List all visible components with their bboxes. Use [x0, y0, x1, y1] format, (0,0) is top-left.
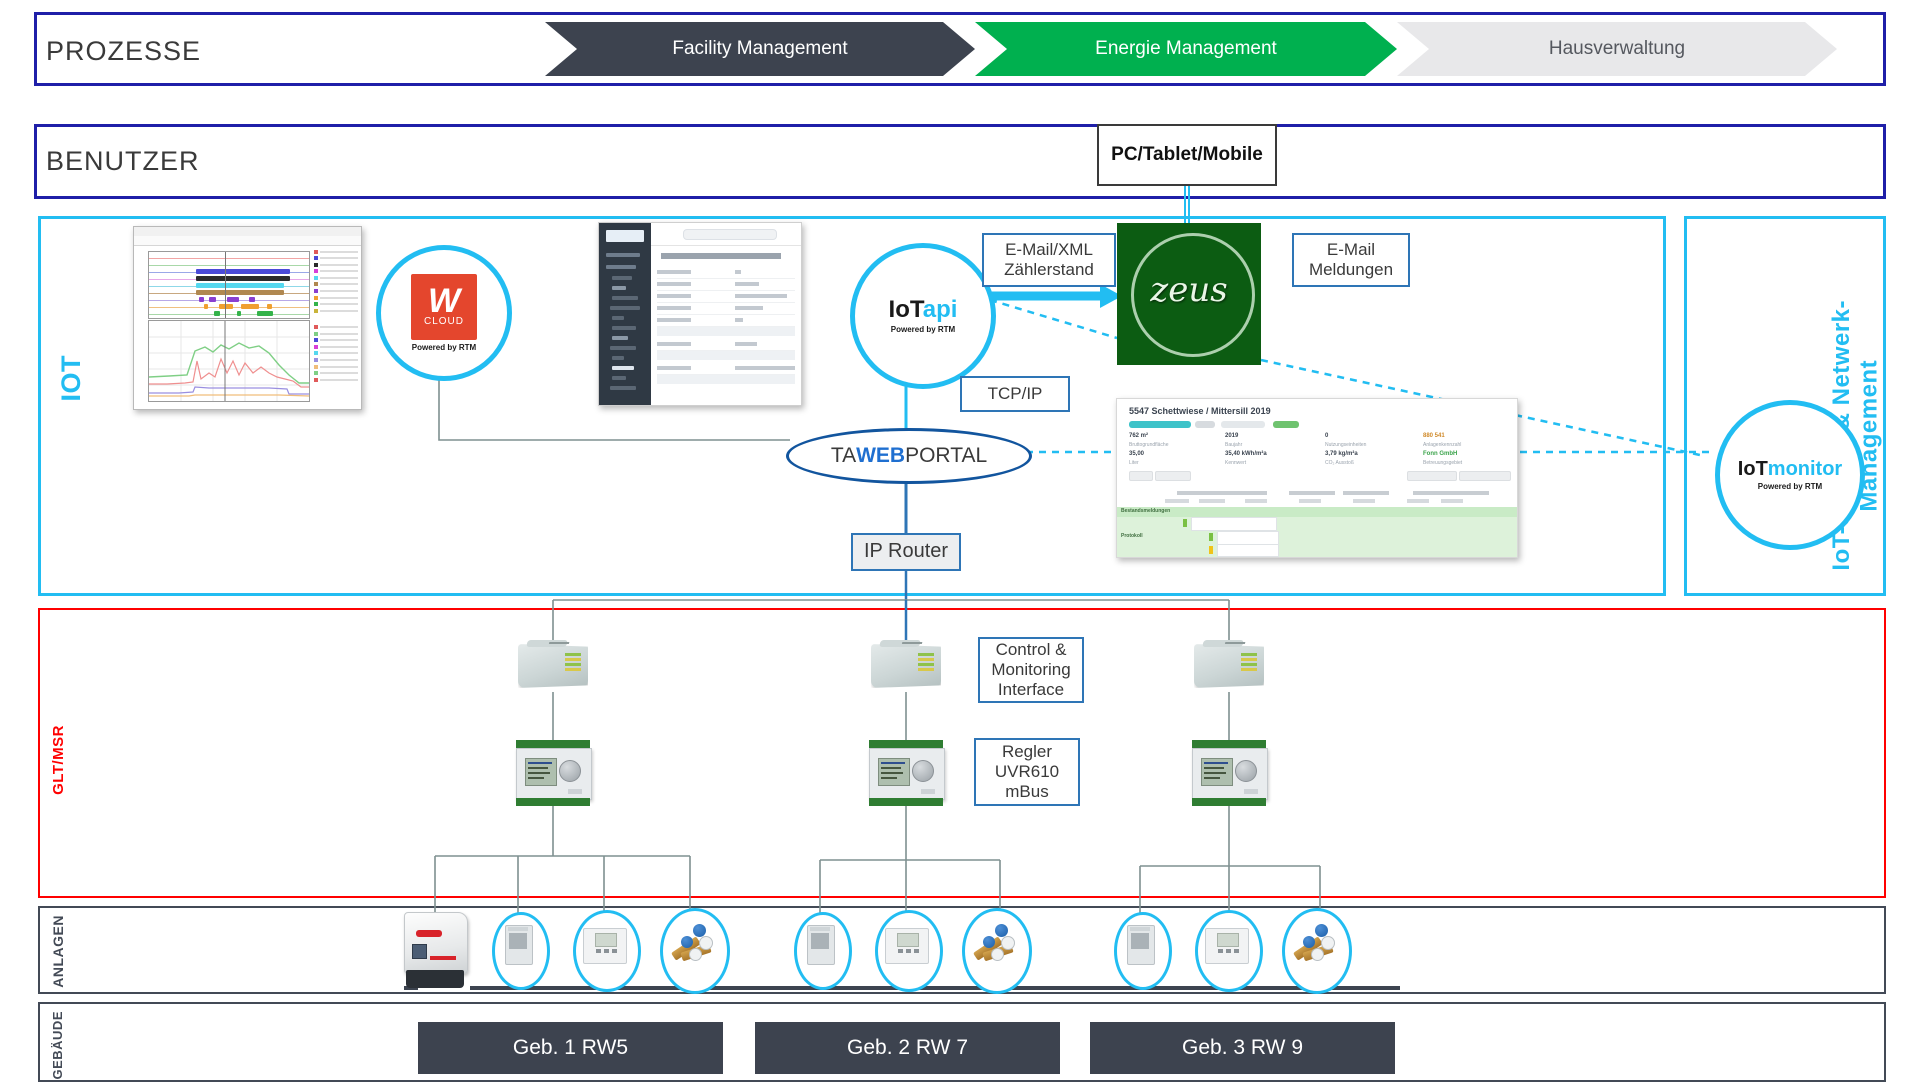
uvr-terminal-bottom — [1192, 798, 1266, 806]
benutzer-row — [34, 124, 1886, 199]
admin-sidebar — [599, 223, 651, 405]
toolbar — [134, 236, 361, 246]
portal-kv-value: 35,00 — [1129, 451, 1144, 457]
iotmonitor-part3: monitor — [1768, 458, 1842, 480]
label-tcpip: TCP/IP — [960, 376, 1070, 412]
trend-log-screenshot[interactable] — [133, 226, 362, 410]
process-step-facility-management[interactable]: Facility Management — [545, 22, 975, 76]
portal-button[interactable] — [1407, 471, 1457, 481]
channel-legend — [314, 249, 358, 401]
portal-kv-value: 762 m² — [1129, 433, 1148, 439]
label-regler-uvr610-mbus: Regler UVR610 mBus — [974, 738, 1080, 806]
iotapi-part3: api — [923, 296, 958, 323]
iotapi-part1: Io — [889, 296, 910, 323]
cmi-status-leds — [1241, 653, 1257, 673]
benutzer-title: BENUTZER — [46, 146, 200, 177]
iot-row-label: IOT — [56, 355, 87, 402]
w-cloud-sub: CLOUD — [424, 316, 464, 327]
iotapi-part2: T — [910, 296, 923, 323]
control-monitoring-interface-1[interactable] — [518, 640, 588, 692]
iotmonitor-logo-circle[interactable]: IoTmonitor Powered by RTM — [1715, 400, 1865, 550]
portal-kv-value: 3,79 kg/m²a — [1325, 451, 1358, 457]
digital-band-plot — [148, 251, 310, 319]
din-rail-energy-meter-2[interactable] — [807, 925, 833, 963]
cmi-top — [1202, 640, 1244, 647]
uvr610-controller-2[interactable] — [869, 740, 943, 806]
inverter-brand-logo — [416, 930, 442, 937]
uvr-button[interactable] — [568, 789, 582, 794]
ta-webportal-node[interactable]: TA WEBPORTAL — [786, 428, 1032, 484]
portal-kv-value: 880 541 — [1423, 433, 1445, 439]
portal-kv-label: Liter — [1129, 460, 1139, 466]
building-2[interactable]: Geb. 2 RW 7 — [755, 1022, 1060, 1074]
inverter-model-text — [430, 956, 456, 960]
label-email-meldungen: E-Mail Meldungen — [1292, 233, 1410, 287]
inverter-base — [406, 970, 464, 988]
portal-kv-value: 2019 — [1225, 433, 1238, 439]
w-cloud-mark: W CLOUD — [411, 274, 477, 340]
uvr-display — [1201, 758, 1233, 786]
inverter-display — [412, 944, 427, 959]
prozesse-title: PROZESSE — [46, 36, 201, 67]
process-step-label: Energie Management — [1095, 38, 1277, 60]
iotapi-logo-circle[interactable]: IoTapi Powered by RTM — [850, 243, 996, 389]
uvr-button[interactable] — [921, 789, 935, 794]
ta-webportal-suffix: PORTAL — [905, 444, 987, 468]
w-cloud-powered-by: Powered by RTM — [412, 343, 476, 352]
iotmonitor-part1: Io — [1738, 458, 1756, 480]
analog-trend-plot — [148, 320, 310, 402]
portal-kv-label: Baujahr — [1225, 442, 1242, 448]
glt-msr-row-label: GLT/MSR — [50, 725, 67, 795]
cmi-status-leds — [565, 653, 581, 673]
admin-page-title — [661, 253, 781, 259]
control-monitoring-interface-3[interactable] — [1194, 640, 1264, 692]
portal-kv-value: 35,40 kWh/m²a — [1225, 451, 1267, 457]
portal-button[interactable] — [1155, 471, 1191, 481]
uvr-terminal-bottom — [516, 798, 590, 806]
uvr-terminal-top — [1192, 740, 1266, 748]
inverter-body — [404, 912, 468, 974]
portal-kv-value: 0 — [1325, 433, 1328, 439]
iotmonitor-powered-by: Powered by RTM — [1758, 482, 1822, 491]
label-email-xml-zaehlerstand: E-Mail/XML Zählerstand — [982, 233, 1116, 287]
portal-heading: 5547 Schettwiese / Mittersill 2019 — [1129, 406, 1271, 416]
control-monitoring-interface-2[interactable] — [871, 640, 941, 692]
uvr610-controller-3[interactable] — [1192, 740, 1266, 806]
uvr-terminal-bottom — [869, 798, 943, 806]
portal-kv-label: CO₂ Ausstoß — [1325, 460, 1354, 466]
heat-meter-calculator-1[interactable] — [583, 928, 625, 962]
pv-inverter[interactable] — [404, 912, 466, 990]
portal-row-label: Protokoll — [1121, 533, 1143, 539]
building-3[interactable]: Geb. 3 RW 9 — [1090, 1022, 1395, 1074]
iotmonitor-wordmark: IoTmonitor — [1738, 459, 1842, 479]
device-detail-screenshot[interactable] — [598, 222, 802, 406]
gebaeude-row-label: GEBÄUDE — [50, 1011, 65, 1080]
w-cloud-letter: W — [428, 287, 460, 316]
portal-kv-label: Nutzungseinheiten — [1325, 442, 1366, 448]
iotapi-wordmark: IoTapi — [889, 298, 958, 322]
uvr-rotary-knob[interactable] — [1235, 760, 1257, 782]
portal-kv-value: Fonn GmbH — [1423, 451, 1457, 457]
valve-flow-meter-3[interactable] — [1291, 922, 1337, 962]
din-rail-energy-meter-3[interactable] — [1127, 925, 1153, 963]
portal-kv-label: Kennwert — [1225, 460, 1246, 466]
uvr610-controller-1[interactable] — [516, 740, 590, 806]
uvr-rotary-knob[interactable] — [559, 760, 581, 782]
portal-kv-label: Anlagenkennzahl — [1423, 442, 1461, 448]
cmi-top — [879, 640, 921, 647]
admin-search-field[interactable] — [683, 229, 777, 240]
process-step-energie-management[interactable]: Energie Management — [975, 22, 1397, 76]
anlagen-row-label: ANLAGEN — [50, 915, 66, 988]
cmi-top — [526, 640, 568, 647]
process-step-label: Facility Management — [672, 38, 847, 60]
zeus-wordmark: zeus — [1117, 270, 1261, 310]
valve-flow-meter-2[interactable] — [971, 922, 1017, 962]
building-1[interactable]: Geb. 1 RW5 — [418, 1022, 723, 1074]
portal-button[interactable] — [1129, 471, 1153, 481]
uvr-terminal-top — [516, 740, 590, 748]
heat-meter-calculator-2[interactable] — [885, 928, 927, 962]
uvr-button[interactable] — [1244, 789, 1258, 794]
glt-msr-row — [38, 608, 1886, 898]
ta-webportal-bold: WEB — [856, 444, 905, 468]
uvr-rotary-knob[interactable] — [912, 760, 934, 782]
energy-portal-screenshot[interactable]: 5547 Schettwiese / Mittersill 2019 762 m… — [1116, 398, 1518, 558]
iotapi-powered-by: Powered by RTM — [891, 325, 955, 334]
portal-section-label: Bestandsmeldungen — [1121, 508, 1170, 514]
zeus-logo[interactable]: zeus — [1117, 223, 1261, 365]
label-control-monitoring-interface: Control & Monitoring Interface — [978, 637, 1084, 703]
cmi-status-leds — [918, 653, 934, 673]
process-step-label: Hausverwaltung — [1549, 38, 1685, 60]
valve-flow-meter-1[interactable] — [669, 922, 715, 962]
uvr-display — [525, 758, 557, 786]
uvr-display — [878, 758, 910, 786]
heat-meter-calculator-3[interactable] — [1205, 928, 1247, 962]
iotmonitor-part2: T — [1756, 458, 1768, 480]
w-cloud-logo-circle[interactable]: W CLOUD Powered by RTM — [376, 245, 512, 381]
uvr-terminal-top — [869, 740, 943, 748]
trend-curves — [149, 321, 309, 401]
process-step-hausverwaltung[interactable]: Hausverwaltung — [1397, 22, 1837, 76]
ta-webportal-prefix: TA — [831, 444, 856, 468]
ip-router-node[interactable]: IP Router — [851, 533, 961, 571]
portal-kv-label: Betreuungsgebiet — [1423, 460, 1462, 466]
din-rail-energy-meter-1[interactable] — [505, 925, 531, 963]
pc-tablet-mobile-box[interactable]: PC/Tablet/Mobile — [1097, 124, 1277, 186]
portal-kv-label: Bruttogrundfläche — [1129, 442, 1168, 448]
admin-logo — [606, 230, 644, 242]
portal-button[interactable] — [1459, 471, 1511, 481]
